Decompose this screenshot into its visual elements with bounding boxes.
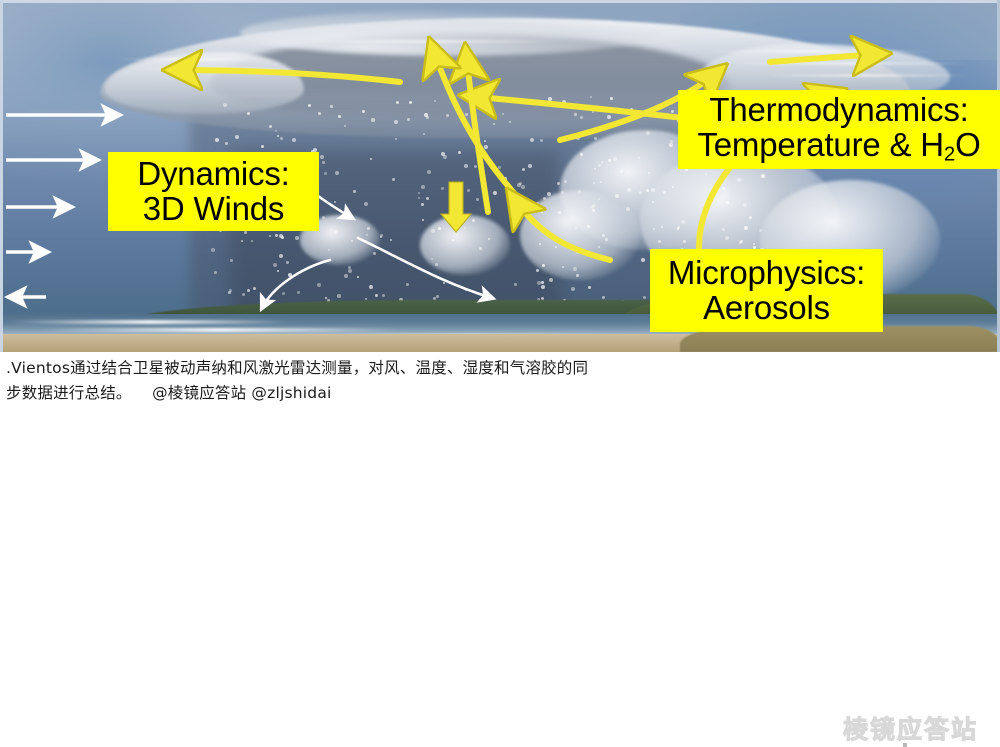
arrow-outflow-curve-3 [262, 260, 330, 308]
downdraft-arrow-shape [441, 182, 471, 232]
photo-border-top [0, 0, 1000, 3]
label-microphysics-line2: Aerosols [656, 291, 877, 326]
caption-line-2: 步数据进行总结。 @棱镜应答站 @zljshidai [6, 381, 816, 406]
arrow-anvil-outflow-left-upper [172, 70, 400, 82]
photo-border-left [0, 0, 3, 352]
label-thermodynamics: Thermodynamics: Temperature & H2O [678, 90, 1000, 169]
watermark-dot [903, 743, 907, 747]
caption-line-1: .Vientos通过结合卫星被动声纳和风激光雷达测量，对风、温度、湿度和气溶胶的… [6, 356, 816, 381]
label-thermo-formula-sub: 2 [944, 143, 955, 166]
caption-bar: .Vientos通过结合卫星被动声纳和风激光雷达测量，对风、温度、湿度和气溶胶的… [0, 352, 1000, 411]
arrow-downdraft-center [441, 182, 471, 232]
arrow-outflow-curve-1 [318, 196, 352, 218]
label-microphysics: Microphysics: Aerosols [650, 249, 883, 332]
arrow-inflow-right-low [512, 196, 610, 260]
storm-photo: Dynamics: 3D Winds Thermodynamics: Tempe… [0, 0, 1000, 352]
watermark-text: 棱镜应答站 [843, 710, 978, 746]
label-dynamics-line1: Dynamics: [114, 157, 313, 192]
arrow-outflow-curve-2 [358, 238, 492, 298]
label-thermodynamics-line2: Temperature & H2O [684, 128, 994, 165]
label-thermo-formula-pre: Temperature & H [697, 126, 943, 163]
label-dynamics-line2: 3D Winds [114, 192, 313, 227]
label-dynamics: Dynamics: 3D Winds [108, 152, 319, 231]
white-wind-arrow-group [6, 115, 118, 297]
label-thermodynamics-line1: Thermodynamics: [684, 93, 994, 128]
arrow-anvil-outflow-left-lower [468, 96, 700, 120]
arrow-anvil-outflow-right-outer [770, 54, 882, 62]
screenshot-root: Dynamics: 3D Winds Thermodynamics: Tempe… [0, 0, 1000, 411]
label-microphysics-line1: Microphysics: [656, 256, 877, 291]
caption-text-block: .Vientos通过结合卫星被动声纳和风激光雷达测量，对风、温度、湿度和气溶胶的… [6, 356, 816, 406]
label-thermo-formula-post: O [955, 126, 980, 163]
